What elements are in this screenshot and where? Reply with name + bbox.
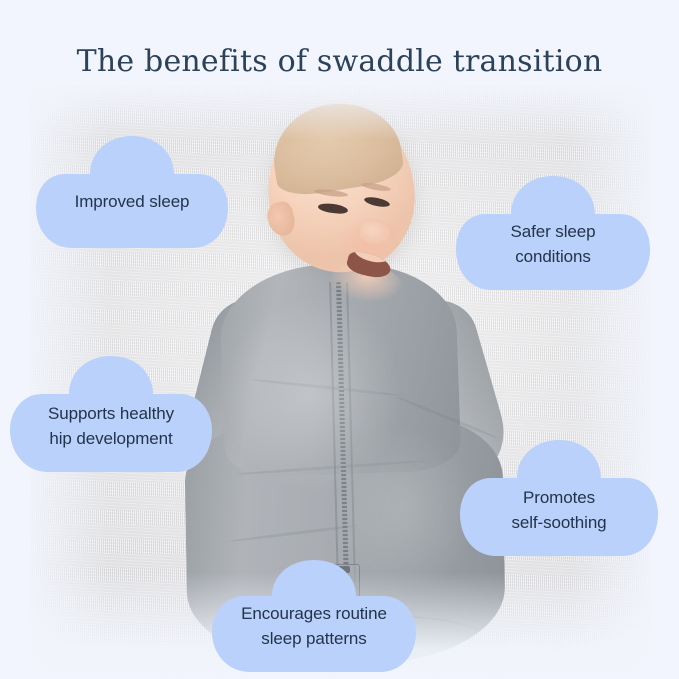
page-title: The benefits of swaddle transition [0,44,679,79]
cloud-shape-icon [32,132,232,252]
swaddle-benefits-infographic: The benefits of swaddle transition [0,0,679,679]
benefit-cloud-improved-sleep: Improved sleep [32,132,232,252]
benefit-cloud-safer-sleep: Safer sleep conditions [452,172,654,294]
benefit-cloud-self-soothing: Promotes self-soothing [456,436,662,560]
cloud-shape-icon [452,172,654,294]
cloud-shape-icon [456,436,662,560]
benefit-cloud-routine-sleep: Encourages routine sleep patterns [208,556,420,676]
benefit-cloud-hip-development: Supports healthy hip development [6,352,216,476]
cloud-shape-icon [208,556,420,676]
cloud-shape-icon [6,352,216,476]
